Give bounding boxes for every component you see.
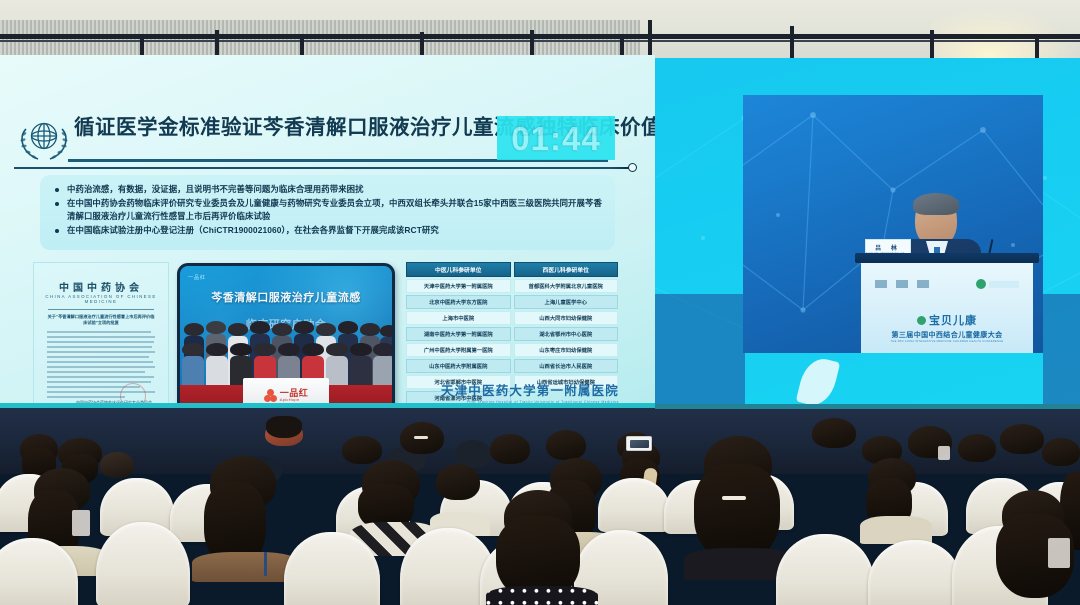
led-dark-panel-right [1043, 294, 1080, 410]
table-header-cell: 中医儿科参研单位 [406, 262, 511, 277]
table-cell: 广州中医药大学附属第一医院 [406, 343, 511, 357]
phone-screen [630, 440, 649, 448]
table-row: 湖南中医药大学第一附属医院 湖北省鄂州市中心医院 [406, 327, 618, 341]
audience-member [990, 490, 1080, 602]
table-cell: 山西省长治市人民医院 [514, 359, 619, 373]
table-cell: 湖北省鄂州市中心医院 [514, 327, 619, 341]
projection-screen-slide: 循证医学金标准验证芩香清解口服液治疗儿童流感独特临床价值 01:44 中药治流感… [0, 55, 655, 408]
audience-member [490, 434, 530, 482]
podium-sponsor-logo: 宝贝儿康 [861, 312, 1033, 328]
audience-shoulders [486, 586, 598, 605]
live-speaker-camera-feed: 吕 林 TIANJIN UNIVERSITY OF TCM 宝贝儿康 第三届中国… [743, 95, 1043, 353]
slide-bullet-list: 中药治流感，有数据，没证据，且说明书不完善等问题为临床合理用药带来困扰 在中国中… [40, 175, 615, 250]
photo-attendee [182, 343, 204, 389]
slide-bullet-item: 在中国临床试验注册中心登记注册（ChiCTR1900021060），在社会各界监… [50, 224, 603, 237]
table-cell: 山东中医药大学附属医院 [406, 359, 511, 373]
audience-member [1000, 424, 1044, 474]
audience-member [196, 456, 292, 574]
screen-bottom-glow-right [655, 404, 1080, 409]
podium-top-edge [855, 253, 1039, 263]
slide-bullet-item: 中药治流感，有数据，没证据，且说明书不完善等问题为临床合理用药带来困扰 [50, 183, 603, 196]
audience-member [430, 464, 488, 534]
photo-attendee [206, 343, 228, 389]
table-row: 天津中医药大学第一附属医院 首都医科大学附属北京儿童医院 [406, 279, 618, 293]
table-cell: 山西大同市妇幼保健院 [514, 311, 619, 325]
slide-progress-handle[interactable] [628, 163, 637, 172]
photo-attendee [326, 343, 348, 389]
table-row: 上海市中医院 山西大同市妇幼保健院 [406, 311, 618, 325]
hair-clip [722, 496, 746, 500]
screen-bottom-glow-left [0, 404, 655, 408]
document-org-title: 中国中药协会 [34, 279, 168, 294]
table-row: 北京中医药大学东方医院 上海儿童医学中心 [406, 295, 618, 309]
podium-conference-title-en: THE 3RD CHINA INTEGRATIVE MEDICINE CHILD… [861, 340, 1033, 343]
table-row: 山东中医药大学附属医院 山西省长治市人民医院 [406, 359, 618, 373]
face-mask [938, 446, 950, 460]
lanyard [264, 552, 267, 576]
table-row: 广州中医药大学附属第一医院 山东枣庄市妇幼保健院 [406, 343, 618, 357]
un-style-globe-laurel-emblem [16, 115, 72, 163]
photo-screen-logo: 一品红 [188, 274, 206, 281]
led-wall-right: 吕 林 TIANJIN UNIVERSITY OF TCM 宝贝儿康 第三届中国… [655, 58, 1080, 410]
document-divider [48, 309, 154, 310]
chair-back [868, 540, 962, 605]
launch-meeting-group-photo: 一品红 芩香清解口服液治疗儿童流感 临床研究启动会 [177, 263, 395, 408]
truss-post [790, 26, 794, 62]
podium-side-marks [875, 280, 929, 288]
hall-ceiling [0, 0, 1080, 62]
table-cell: 上海市中医院 [406, 311, 511, 325]
audience-member [812, 418, 856, 466]
smartphone-camera[interactable] [626, 436, 652, 451]
speaker-hair [913, 193, 959, 215]
audience-member [862, 458, 928, 542]
yipinhong-logo-icon [264, 389, 277, 402]
face-mask [72, 510, 90, 536]
conference-hall-photo: 循证医学金标准验证芩香清解口服液治疗儿童流感独特临床价值 01:44 中药治流感… [0, 0, 1080, 605]
podium-brand-en: AplcHope [280, 398, 309, 402]
photo-attendee [373, 343, 395, 389]
slide-footer-hospital: 天津中医药大学第一附属医院 [441, 380, 619, 399]
table-cell: 上海儿童医学中心 [514, 295, 619, 309]
slide-bullet-item: 在中国中药协会药物临床评价研究专业委员会及儿童健康与药物研究专业委员会立项，中西… [50, 197, 603, 223]
approval-document-thumbnail: 中国中药协会 CHINA ASSOCIATION OF CHINESE MEDI… [33, 262, 169, 408]
ceiling-truss-beam-lower [0, 40, 1080, 42]
table-cell: 湖南中医药大学第一附属医院 [406, 327, 511, 341]
audience-member [486, 490, 592, 605]
countdown-timer-overlay: 01:44 [497, 116, 615, 160]
face-mask [1048, 538, 1070, 568]
stage-podium: 宝贝儿康 第三届中国中西结合儿童健康大会 THE 3RD CHINA INTEG… [861, 259, 1033, 353]
sponsor-dot-icon [917, 316, 926, 325]
document-org-subtitle: CHINA ASSOCIATION OF CHINESE MEDICINE [34, 294, 168, 304]
led-dark-panel-left [655, 294, 745, 410]
table-cell: 北京中医药大学东方医院 [406, 295, 511, 309]
podium-conference-title: 第三届中国中西结合儿童健康大会 [861, 330, 1033, 340]
audience-seating [0, 412, 1080, 605]
table-header-row: 中医儿科参研单位 西医儿科参研单位 [406, 262, 618, 277]
podium-badge [976, 279, 1019, 289]
ceiling-truss-beam [0, 34, 1080, 39]
hair-clip [414, 436, 428, 439]
table-header-cell: 西医儿科参研单位 [514, 262, 619, 277]
podium-sponsor-name: 宝贝儿康 [929, 315, 977, 327]
speaker-name: 吕 林 [875, 243, 901, 252]
countdown-timer-value: 01:44 [511, 122, 600, 155]
chair-back [776, 534, 874, 605]
table-cell: 首都医科大学附属北京儿童医院 [514, 279, 619, 293]
photo-attendee [350, 343, 372, 389]
audience-member [958, 434, 996, 478]
audience-member [684, 436, 790, 576]
photo-attendee-group [180, 297, 392, 389]
table-cell: 天津中医药大学第一附属医院 [406, 279, 511, 293]
table-cell: 山东枣庄市妇幼保健院 [514, 343, 619, 357]
document-heading: 关于“芩香清解口服液治疗儿童流行性感冒上市后再评价临床试验”立项的批复 [47, 314, 155, 327]
slide-progress-bar [14, 167, 630, 169]
